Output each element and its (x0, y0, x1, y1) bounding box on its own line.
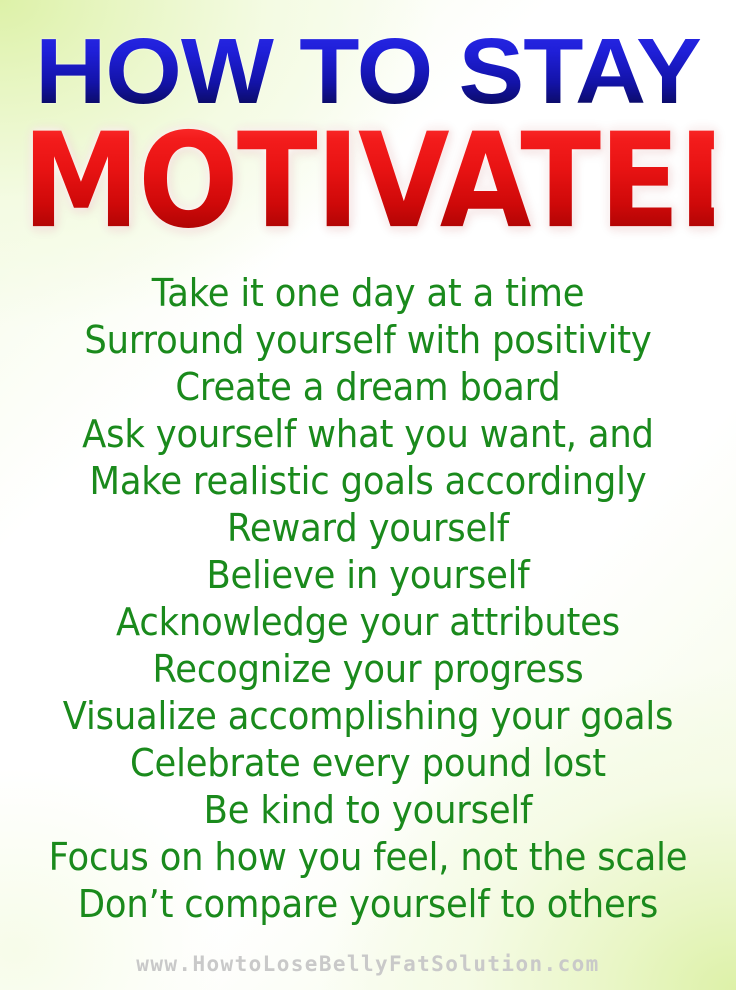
tips-list: Take it one day at a time Surround yours… (0, 270, 736, 928)
tip-item: Surround yourself with positivity (26, 317, 710, 364)
tip-item: Reward yourself (26, 505, 710, 552)
tip-item: Recognize your progress (26, 646, 710, 693)
tip-item: Don’t compare yourself to others (26, 881, 710, 928)
footer-website-url[interactable]: www.HowtoLoseBellyFatSolution.com (0, 950, 736, 978)
tip-item: Be kind to yourself (26, 787, 710, 834)
tip-item: Visualize accomplishing your goals (26, 693, 710, 740)
tip-item: Create a dream board (26, 364, 710, 411)
tip-item: Celebrate every pound lost (26, 740, 710, 787)
tip-item: Focus on how you feel, not the scale (26, 834, 710, 881)
tip-item: Take it one day at a time (26, 270, 710, 317)
tip-item: Acknowledge your attributes (26, 599, 710, 646)
tip-item: Believe in yourself (26, 552, 710, 599)
motivational-poster: HOW TO STAY MOTIVATED Take it one day at… (0, 0, 736, 990)
tip-item: Make realistic goals accordingly (26, 458, 710, 505)
headline-block: HOW TO STAY MOTIVATED (0, 26, 736, 239)
headline-line-2: MOTIVATED (22, 119, 714, 243)
poster-content: HOW TO STAY MOTIVATED Take it one day at… (0, 0, 736, 990)
tip-item: Ask yourself what you want, and (26, 411, 710, 458)
